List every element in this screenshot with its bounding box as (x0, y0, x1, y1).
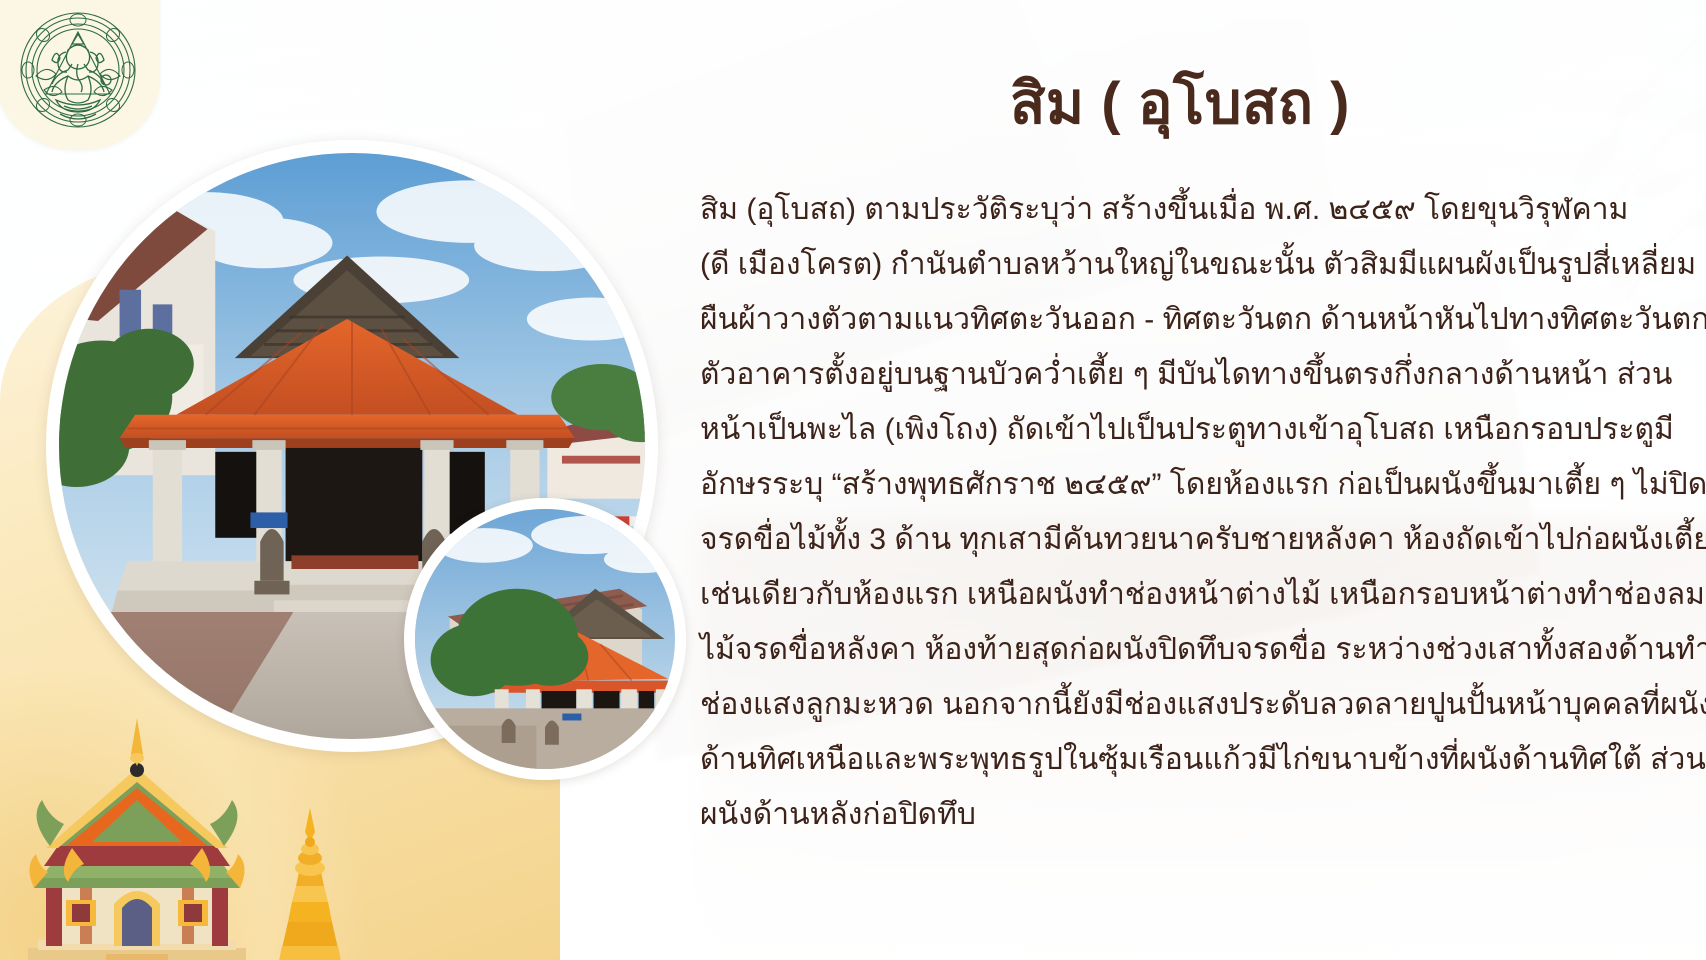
body-line: อักษรระบุ “สร้างพุทธศักราช ๒๔๕๙” โดยห้อง… (700, 457, 1690, 512)
ganesha-seal-icon (14, 6, 142, 134)
page-title: สิม ( อุโบสถ ) (700, 72, 1660, 136)
body-paragraph: สิม (อุโบสถ) ตามประวัติระบุว่า สร้างขึ้น… (700, 182, 1690, 842)
temple-building-icon (28, 718, 246, 960)
body-line: ไม้จรดขื่อหลังคา ห้องท้ายสุดก่อผนังปิดทึ… (700, 622, 1690, 677)
body-line: หน้าเป็นพะไล (เพิงโถง) ถัดเข้าไปเป็นประต… (700, 402, 1690, 457)
poster-canvas: สิม ( อุโบสถ ) สิม (อุโบสถ) ตามประวัติระ… (0, 0, 1706, 960)
body-line: จรดขื่อไม้ทั้ง 3 ด้าน ทุกเสามีคันทวยนาคร… (700, 512, 1690, 567)
fine-arts-department-emblem-panel (0, 0, 160, 150)
stupa-icon (278, 808, 342, 960)
body-line: ผืนผ้าวางตัวตามแนวทิศตะวันออก - ทิศตะวัน… (700, 292, 1690, 347)
body-line: ด้านทิศเหนือและพระพุทธรูปในซุ้มเรือนแก้ว… (700, 732, 1690, 787)
temple-side-view-photo (404, 498, 686, 780)
body-line: สิม (อุโบสถ) ตามประวัติระบุว่า สร้างขึ้น… (700, 182, 1690, 237)
body-line: (ดี เมืองโครต) กำนันตำบลหว้านใหญ่ในขณะนั… (700, 237, 1690, 292)
body-line: ผนังด้านหลังก่อปิดทึบ (700, 787, 1690, 842)
body-line: ช่องแสงลูกมะหวด นอกจากนี้ยังมีช่องแสงประ… (700, 677, 1690, 732)
body-line: ตัวอาคารตั้งอยู่บนฐานบัวคว่ำเตี้ย ๆ มีบั… (700, 347, 1690, 402)
body-line: เช่นเดียวกับห้องแรก เหนือผนังทำช่องหน้าต… (700, 567, 1690, 622)
